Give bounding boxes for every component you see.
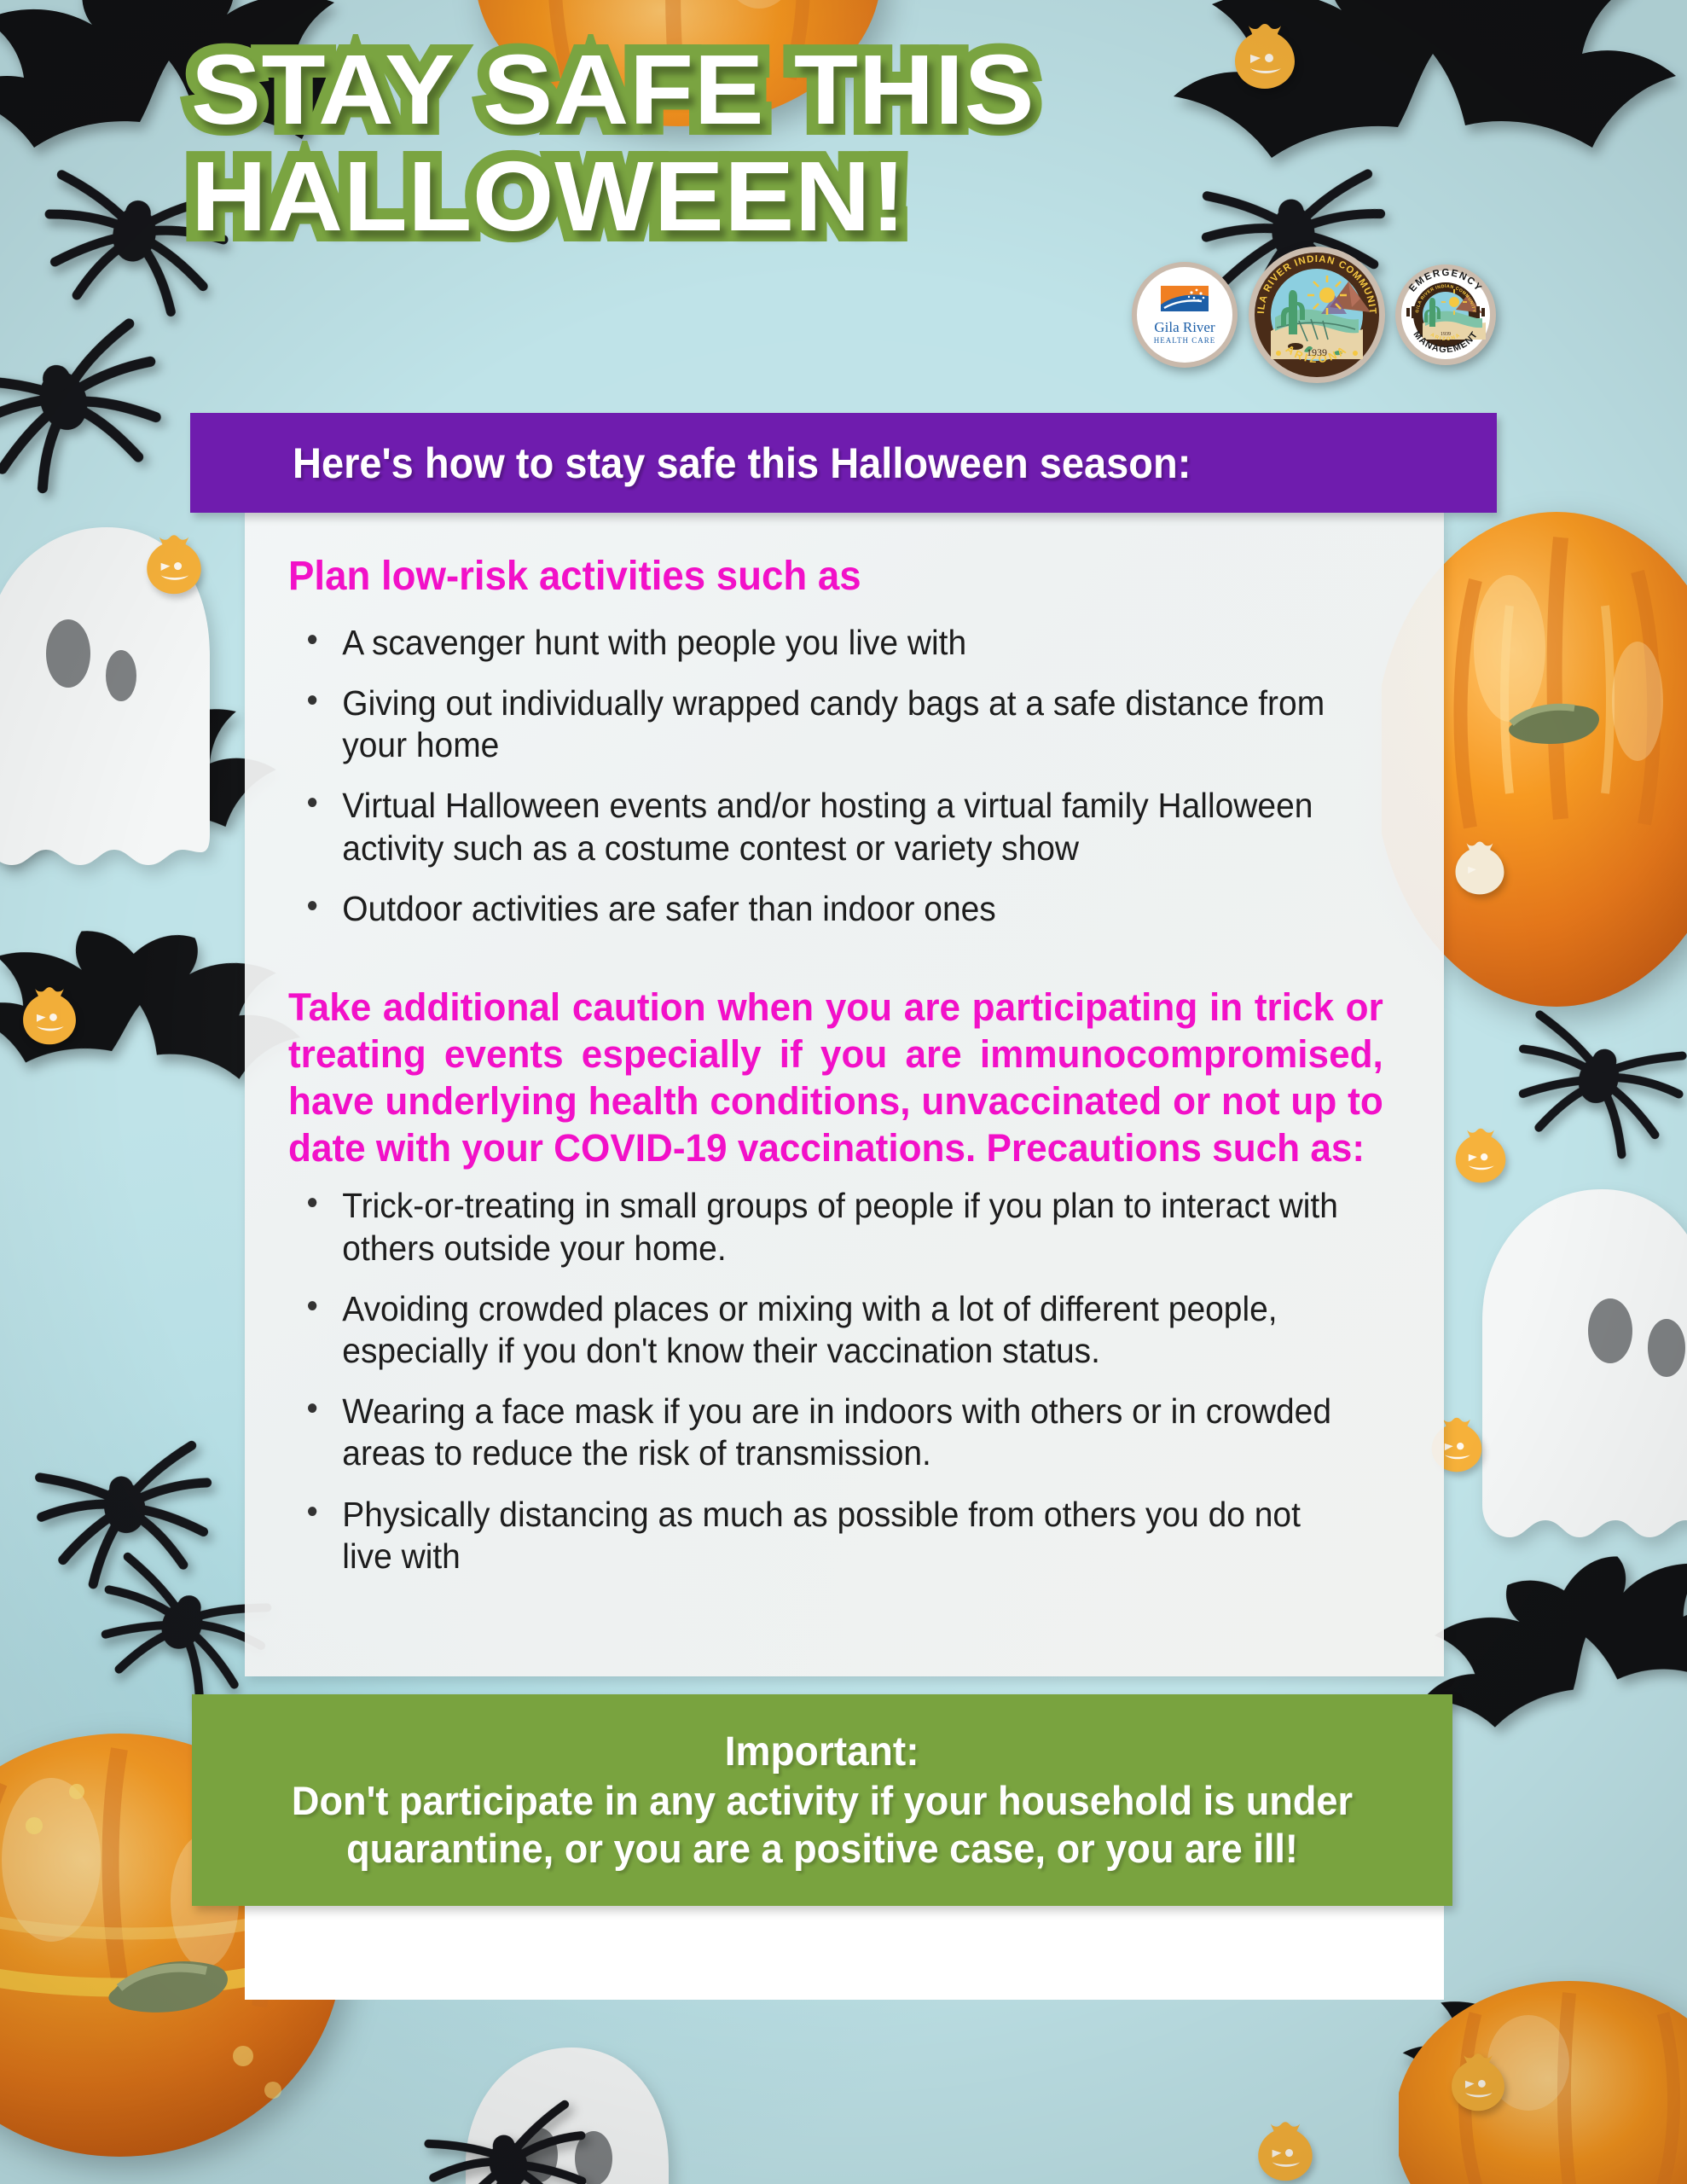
list-item: Outdoor activities are safer than indoor… xyxy=(299,888,1350,930)
important-callout-box: Important: Don't participate in any acti… xyxy=(192,1694,1452,1906)
list-item: Giving out individually wrapped candy ba… xyxy=(299,682,1350,766)
footer-white-strip xyxy=(245,1906,1444,2000)
intro-banner: Here's how to stay safe this Halloween s… xyxy=(190,413,1497,513)
emergency-management-seal: EMERGENCY MANAGEMENT GILA RIVER INDIAN C… xyxy=(1394,264,1497,366)
section-heading-low-risk: Plan low-risk activities such as xyxy=(288,555,1350,600)
svg-text:HEALTH CARE: HEALTH CARE xyxy=(1154,336,1215,345)
title-line-1: STAY SAFE THIS xyxy=(191,39,1258,141)
gila-river-indian-community-seal: GILA RIVER INDIAN COMMUNITY ARIZONA 1939 xyxy=(1248,246,1386,384)
content-body: Plan low-risk activities such as A scave… xyxy=(288,555,1406,1596)
list-item: Trick-or-treating in small groups of peo… xyxy=(299,1185,1350,1269)
poster-title: STAY SAFE THIS HALLOWEEN! xyxy=(191,39,1197,253)
section-spacer xyxy=(288,949,1406,985)
important-heading: Important: xyxy=(725,1728,919,1775)
list-item: Wearing a face mask if you are in indoor… xyxy=(299,1391,1350,1474)
important-text: Don't participate in any activity if you… xyxy=(217,1777,1428,1872)
list-item: A scavenger hunt with people you live wi… xyxy=(299,622,1350,664)
list-item: Physically distancing as much as possibl… xyxy=(299,1494,1350,1577)
list-item: Virtual Halloween events and/or hosting … xyxy=(299,785,1350,868)
intro-banner-text: Here's how to stay safe this Halloween s… xyxy=(293,439,1191,488)
title-line-2: HALLOWEEN! xyxy=(191,146,1258,247)
section-paragraph-caution: Take additional caution when you are par… xyxy=(288,985,1383,1172)
svg-text:Gila River: Gila River xyxy=(1154,319,1215,335)
gila-river-health-care-logo: Gila River HEALTH CARE xyxy=(1130,260,1239,369)
svg-text:1939: 1939 xyxy=(1307,346,1327,358)
halloween-safety-poster: STAY SAFE THIS HALLOWEEN! Gila River HEA… xyxy=(0,0,1687,2184)
list-item: Avoiding crowded places or mixing with a… xyxy=(299,1288,1350,1372)
svg-text:1939: 1939 xyxy=(1441,332,1451,337)
logo-group: Gila River HEALTH CARE xyxy=(1130,246,1497,384)
low-risk-bullet-list: A scavenger hunt with people you live wi… xyxy=(288,622,1406,930)
precautions-bullet-list: Trick-or-treating in small groups of peo… xyxy=(288,1185,1406,1577)
